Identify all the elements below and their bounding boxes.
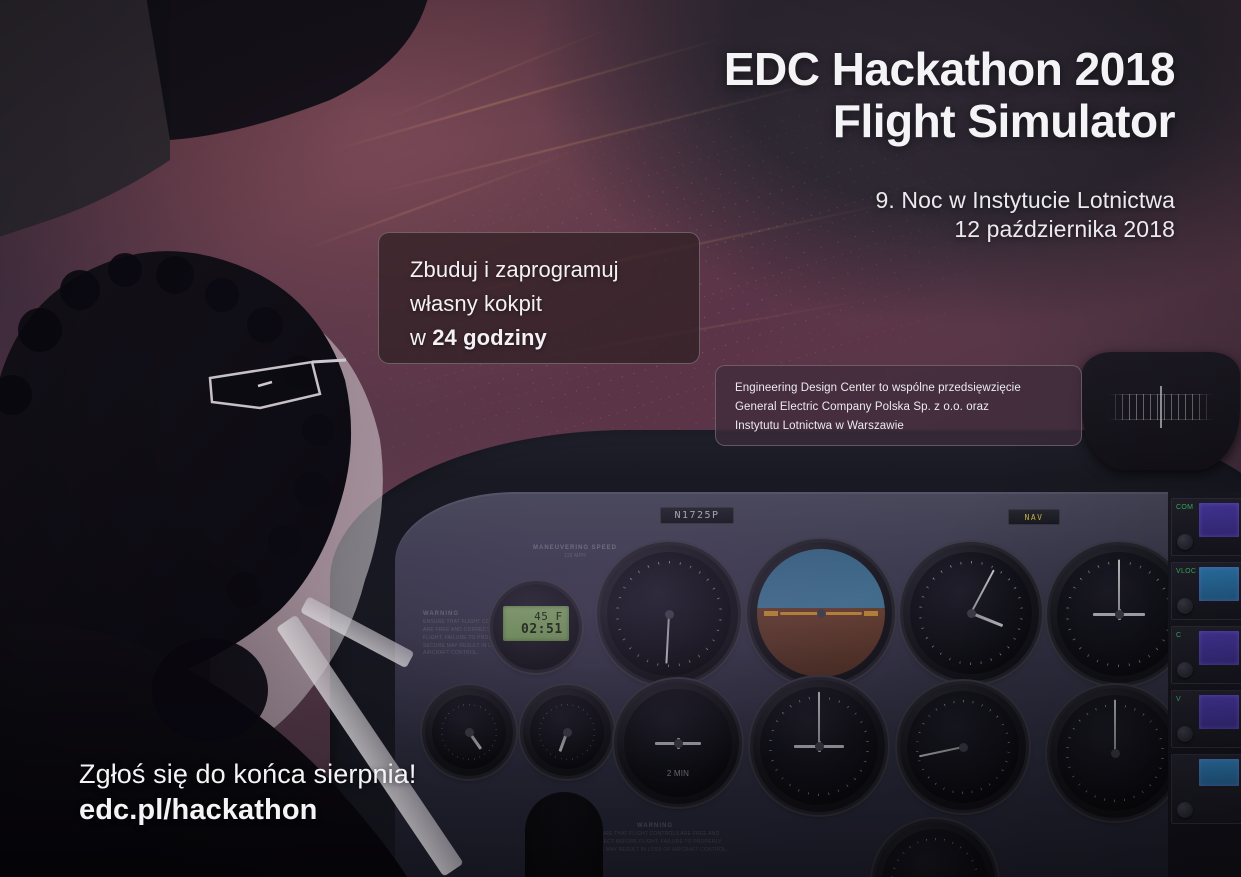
nav-annunciator: NAV: [1008, 509, 1060, 525]
magnetic-compass: [1082, 352, 1240, 470]
callout-line-1: Zbuduj i zaprogramuj: [410, 253, 699, 287]
page-title: EDC Hackathon 2018 Flight Simulator: [724, 44, 1175, 147]
heading-upper-face: [1057, 552, 1181, 676]
maneuvering-speed-placard: MANEUVERING SPEED 115 MPH: [520, 544, 630, 561]
heading-upper-aircraft-symbol: [1093, 613, 1145, 616]
attitude-face: [757, 549, 885, 677]
warning-placard-body: Ensure that flight controls are free and…: [423, 619, 513, 656]
radio-transponder: [1171, 754, 1241, 824]
infobox-line-3: Instytutu Lotnictwa w Warszawie: [735, 417, 1081, 436]
fuel-hub: [465, 728, 474, 737]
turn-coordinator-label: 2 MIN: [667, 769, 689, 778]
lcd-temperature: 45 F: [534, 611, 563, 623]
altimeter-ticks: [919, 561, 1023, 665]
turn-coordinator: 2 MIN: [617, 682, 739, 804]
vsi-needle: [919, 746, 963, 757]
radio-vloc-screen: [1199, 567, 1239, 601]
altimeter-short-needle: [970, 612, 1003, 628]
airspeed-needle: [665, 614, 670, 664]
engine-green-arc: [542, 707, 592, 757]
callout-duration: 24 godziny: [432, 325, 547, 350]
heading-lower-hub: [1111, 749, 1120, 758]
radio-unit-v-label: V: [1176, 696, 1181, 703]
radio-vloc-knob: [1177, 598, 1193, 614]
cta-url[interactable]: edc.pl/hackathon: [79, 792, 416, 829]
event-subtitle: 9. Noc w Instytucie Lotnictwa 12 paździe…: [876, 186, 1175, 245]
airspeed-white-arc: [619, 564, 719, 664]
engine-hub: [563, 728, 572, 737]
radio-unit-c: C: [1171, 626, 1241, 684]
directional-gyro-needle: [818, 692, 820, 746]
airspeed-face: [607, 552, 731, 676]
radio-transponder-screen: [1199, 759, 1239, 786]
lcd-clock: 02:51: [521, 623, 563, 637]
airspeed-ticks: [616, 561, 722, 667]
lcd-display: 45 F 02:51: [503, 606, 568, 640]
manifold-pressure-gauge: [875, 822, 995, 877]
cta-deadline: Zgłoś się do końca sierpnia!: [79, 757, 416, 792]
warning-placard-title: WARNING: [423, 610, 519, 619]
directional-gyro-aircraft-symbol: [794, 745, 844, 748]
compass-lubber-line: [1160, 386, 1162, 428]
radio-vloc-label: VLOC: [1176, 568, 1196, 575]
callout-line-3: w 24 godziny: [410, 321, 699, 355]
altimeter-face: [910, 552, 1032, 674]
turn-coordinator-hub: [674, 739, 683, 748]
engine-needle: [559, 731, 569, 751]
maneuvering-speed-title: MANEUVERING SPEED: [520, 544, 630, 553]
heading-upper-ticks: [1066, 561, 1172, 667]
control-yoke-column: [525, 792, 603, 877]
attitude-indicator: [750, 542, 892, 684]
radio-com1-knob: [1177, 534, 1193, 550]
radio-com1-label: COM: [1176, 504, 1193, 511]
subtitle-line-2: 12 października 2018: [876, 215, 1175, 244]
turn-coordinator-aircraft-symbol: [655, 742, 700, 745]
infobox-line-2: General Electric Company Polska Sp. z o.…: [735, 398, 1081, 417]
heading-upper-needle: [1118, 559, 1120, 614]
manifold-red-arc: [894, 841, 976, 877]
avionics-radio-stack: COM VLOC C V: [1168, 492, 1241, 877]
radio-unit-c-screen: [1199, 631, 1239, 665]
maneuvering-speed-body: 115 MPH: [564, 553, 586, 559]
radio-com1-screen: [1199, 503, 1239, 537]
fuel-ticks: [441, 704, 497, 760]
subtitle-line-1: 9. Noc w Instytucie Lotnictwa: [876, 186, 1175, 215]
altimeter-hub: [967, 609, 976, 618]
manifold-face: [882, 829, 988, 877]
directional-gyro: [753, 680, 885, 812]
vsi-face: [907, 691, 1019, 803]
call-to-action: Zgłoś się do końca sierpnia! edc.pl/hack…: [79, 757, 416, 829]
manifold-ticks: [891, 838, 979, 877]
heading-lower-needle: [1114, 700, 1116, 753]
warning-placard-upper: WARNING Ensure that flight controls are …: [423, 610, 519, 658]
radio-vloc: VLOC: [1171, 562, 1241, 620]
radio-unit-c-label: C: [1176, 632, 1181, 639]
attitude-hub: [817, 609, 826, 618]
fuel-face: [432, 695, 506, 769]
altimeter-long-needle: [970, 569, 995, 613]
radio-unit-v-knob: [1177, 726, 1193, 742]
digital-clock-oat-unit: 45 F 02:51: [493, 584, 579, 670]
warning-placard-lower: WARNING Ensure that flight controls are …: [580, 822, 730, 855]
infobox-line-1: Engineering Design Center to wspólne prz…: [735, 379, 1081, 398]
attitude-wings-symbol: [780, 612, 862, 615]
organizer-info-box: Engineering Design Center to wspólne prz…: [715, 365, 1082, 446]
radio-unit-v-screen: [1199, 695, 1239, 729]
radio-unit-c-knob: [1177, 662, 1193, 678]
radio-transponder-knob: [1177, 802, 1193, 818]
airspeed-yellow-arc: [619, 564, 719, 664]
vertical-speed-indicator: [900, 684, 1026, 810]
airspeed-hub: [665, 610, 674, 619]
fuel-needle: [468, 731, 482, 750]
warning-lower-body: Ensure that flight controls are free and…: [582, 831, 727, 853]
altimeter: [903, 545, 1039, 681]
heading-indicator-lower: [1050, 688, 1180, 818]
heading-upper-hub: [1115, 610, 1124, 619]
turn-coordinator-face: 2 MIN: [624, 689, 732, 797]
title-line-2: Flight Simulator: [724, 96, 1175, 148]
heading-lower-face: [1057, 695, 1173, 811]
airspeed-indicator: [600, 545, 738, 683]
vsi-hub: [959, 743, 968, 752]
heading-lower-ticks: [1066, 704, 1164, 802]
tail-number-placard: N1725P: [660, 507, 734, 524]
callout-line-3-prefix: w: [410, 325, 432, 350]
warning-lower-title: WARNING: [580, 822, 730, 831]
radio-com1: COM: [1171, 498, 1241, 556]
instrument-panel: N1725P NAV MANEUVERING SPEED 115 MPH WAR…: [395, 492, 1241, 877]
challenge-callout-box: Zbuduj i zaprogramuj własny kokpit w 24 …: [378, 232, 700, 364]
poster-canvas: N1725P NAV MANEUVERING SPEED 115 MPH WAR…: [0, 0, 1241, 877]
airspeed-green-arc: [619, 564, 719, 664]
directional-gyro-ticks: [769, 696, 869, 796]
vsi-ticks: [916, 700, 1010, 794]
radio-unit-v: V: [1171, 690, 1241, 748]
callout-line-2: własny kokpit: [410, 287, 699, 321]
engine-cluster-face: [530, 695, 604, 769]
directional-gyro-hub: [815, 742, 824, 751]
engine-cluster-gauge: [523, 688, 611, 776]
directional-gyro-face: [760, 687, 878, 805]
manifold-green-arc: [894, 841, 976, 877]
engine-cluster-ticks: [539, 704, 595, 760]
fuel-quantity-gauge: [425, 688, 513, 776]
engine-red-arc: [542, 707, 592, 757]
title-line-1: EDC Hackathon 2018: [724, 44, 1175, 96]
